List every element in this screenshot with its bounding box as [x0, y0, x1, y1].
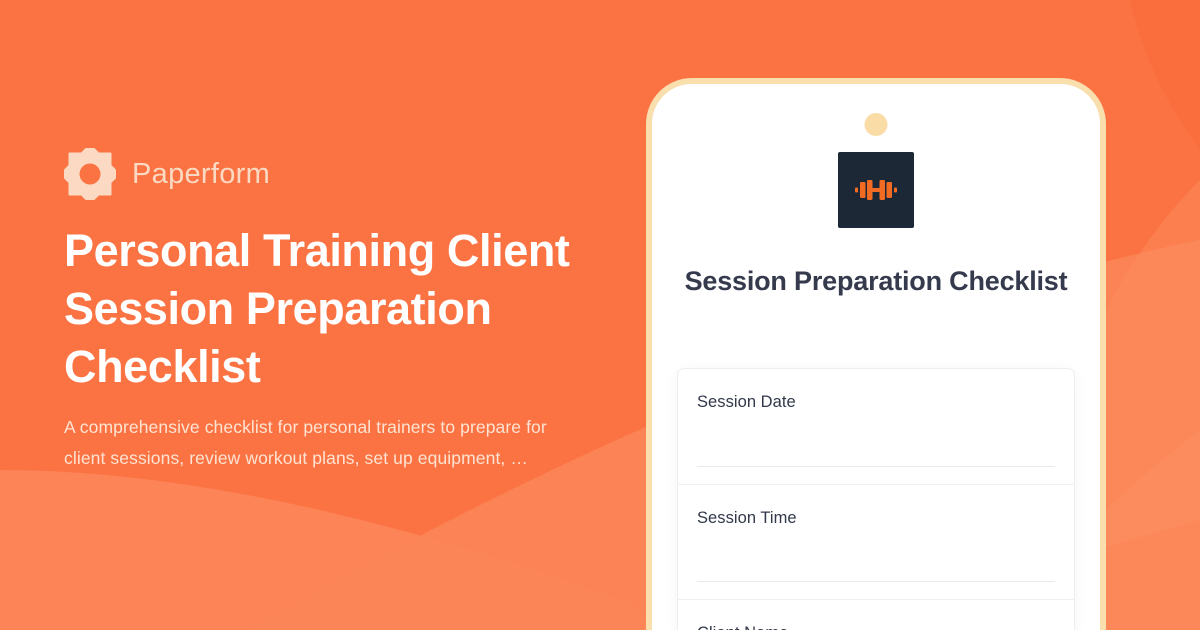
- phone-mockup: Session Preparation Checklist Session Da…: [646, 78, 1106, 630]
- form-title: Session Preparation Checklist: [680, 262, 1072, 301]
- dumbbell-icon: [838, 152, 914, 228]
- session-date-input[interactable]: [697, 466, 1055, 467]
- brand-name: Paperform: [132, 160, 270, 189]
- paperform-star-logo-icon: [64, 148, 116, 200]
- session-time-input[interactable]: [697, 581, 1055, 582]
- form-fields-card: Session Date Session Time Client Name: [678, 369, 1074, 630]
- brand-lockup: Paperform: [64, 148, 270, 200]
- field-label: Session Time: [697, 507, 1055, 529]
- page-description: A comprehensive checklist for personal t…: [64, 412, 584, 473]
- form-field-session-time[interactable]: Session Time: [678, 484, 1074, 599]
- page-title: Personal Training Client Session Prepara…: [64, 222, 624, 396]
- phone-screen: Session Preparation Checklist Session Da…: [652, 84, 1100, 630]
- hero-left-column: Paperform Personal Training Client Sessi…: [64, 0, 684, 630]
- form-field-session-date[interactable]: Session Date: [678, 369, 1074, 484]
- field-label: Client Name: [697, 622, 1055, 630]
- form-field-client-name[interactable]: Client Name: [678, 599, 1074, 630]
- camera-dot-icon: [865, 113, 888, 136]
- field-label: Session Date: [697, 391, 1055, 413]
